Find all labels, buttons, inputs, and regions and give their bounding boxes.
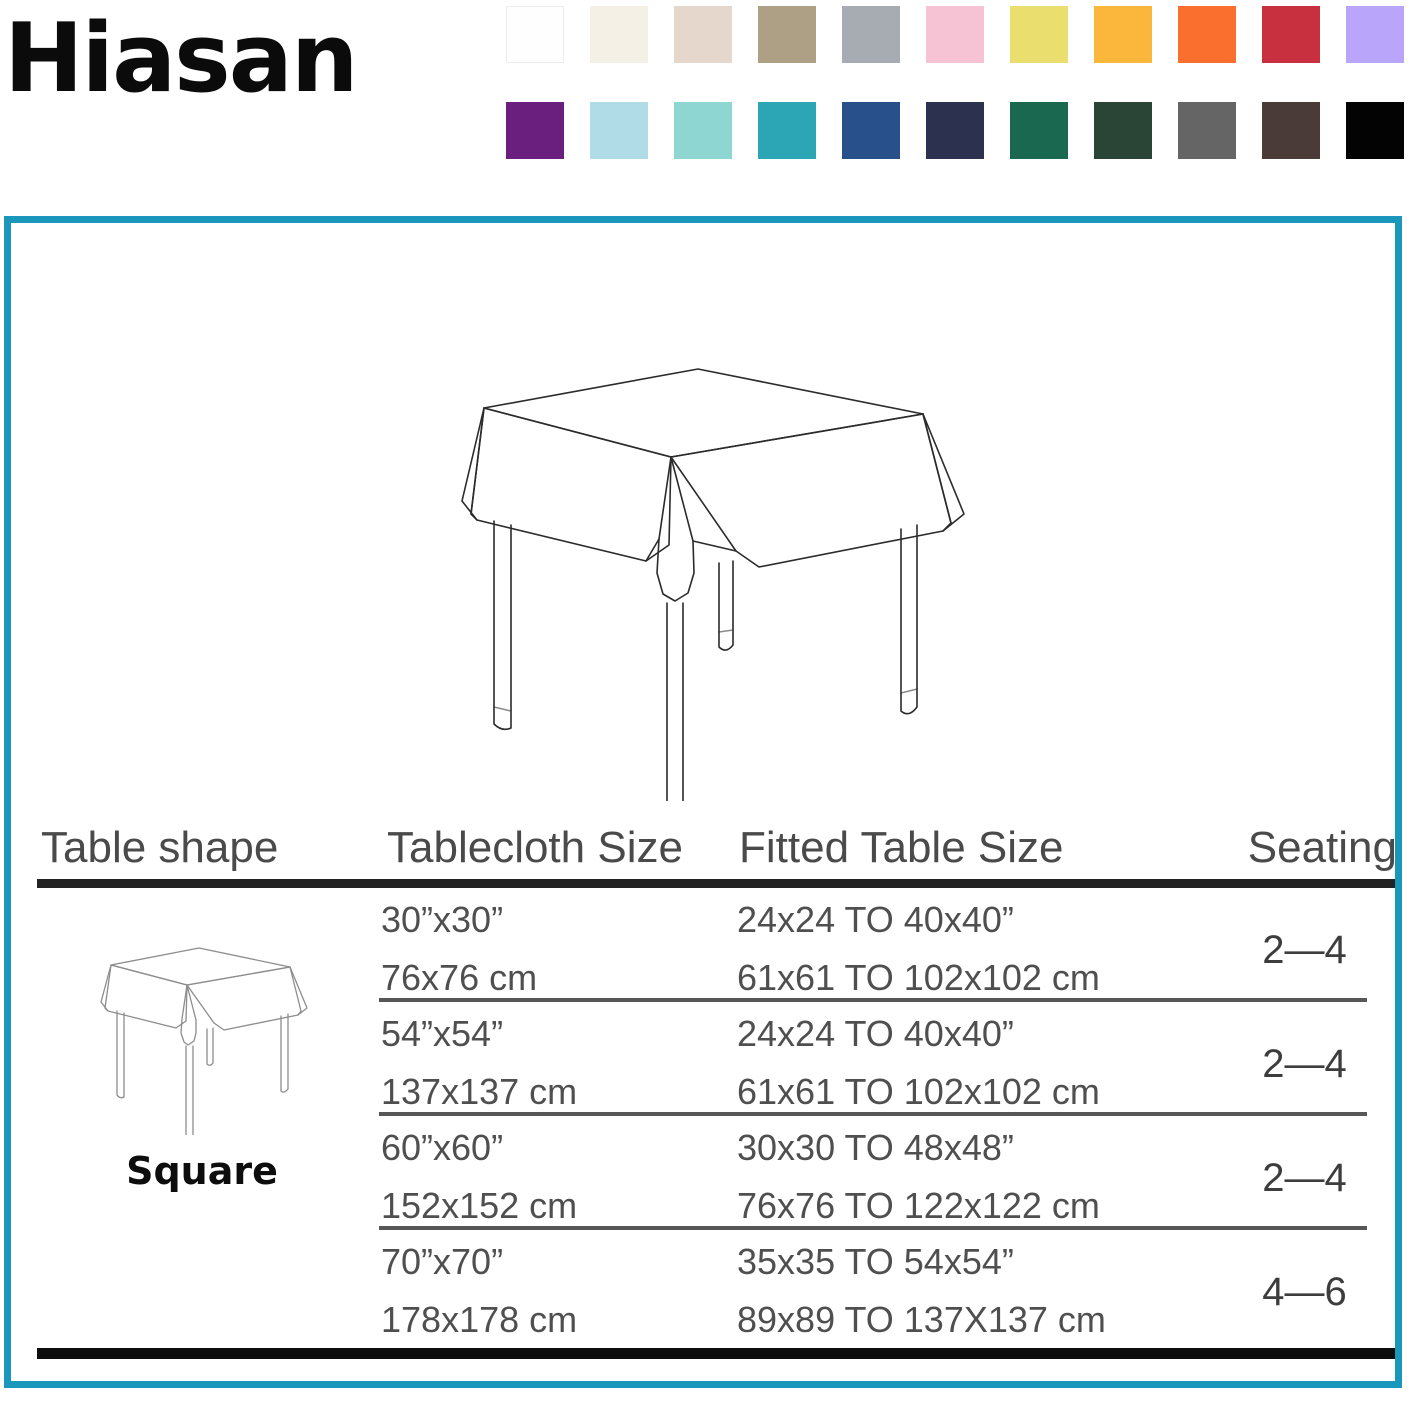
header-divider <box>37 879 1395 888</box>
col-header-seating: Seating <box>1248 826 1397 870</box>
swatch-navy-blue[interactable] <box>842 102 900 159</box>
swatch-orange[interactable] <box>1178 6 1236 63</box>
table-header-row: Table shape Tablecloth Size Fitted Table… <box>37 808 1397 870</box>
cell-seating: 2—4 <box>1212 1044 1397 1084</box>
cell-cloth-size-cm: 137x137 cm <box>381 1074 577 1110</box>
swatch-aqua[interactable] <box>674 102 732 159</box>
swatch-grey[interactable] <box>842 6 900 63</box>
cell-cloth-size-cm: 152x152 cm <box>381 1188 577 1224</box>
swatch-white[interactable] <box>506 6 564 63</box>
swatch-dark-brown[interactable] <box>1262 102 1320 159</box>
table-body: Square 30”x30” 76x76 cm 24x24 TO 40x40” … <box>37 888 1397 1359</box>
swatch-beige[interactable] <box>674 6 732 63</box>
cell-fitted-size-inches: 30x30 TO 48x48” <box>737 1130 1014 1166</box>
swatch-red[interactable] <box>1262 6 1320 63</box>
swatch-dark-navy[interactable] <box>926 102 984 159</box>
swatch-gold[interactable] <box>1094 6 1152 63</box>
table-row: 60”x60” 152x152 cm 30x30 TO 48x48” 76x76… <box>37 1116 1397 1226</box>
swatch-yellow[interactable] <box>1010 6 1068 63</box>
swatch-ivory[interactable] <box>590 6 648 63</box>
cell-fitted-size-inches: 24x24 TO 40x40” <box>737 902 1014 938</box>
swatch-light-blue[interactable] <box>590 102 648 159</box>
color-swatch-grid <box>506 6 1414 159</box>
swatch-pink[interactable] <box>926 6 984 63</box>
cell-fitted-size-cm: 76x76 TO 122x122 cm <box>737 1188 1100 1224</box>
swatch-black[interactable] <box>1346 102 1404 159</box>
brand-logo: Hiasan <box>4 12 356 107</box>
cell-fitted-size-inches: 24x24 TO 40x40” <box>737 1016 1014 1052</box>
size-spec-table: Table shape Tablecloth Size Fitted Table… <box>37 808 1397 1359</box>
cell-fitted-size-cm: 61x61 TO 102x102 cm <box>737 1074 1100 1110</box>
table-row: 30”x30” 76x76 cm 24x24 TO 40x40” 61x61 T… <box>37 888 1397 998</box>
table-bottom-border <box>37 1348 1395 1359</box>
cell-seating: 2—4 <box>1212 930 1397 970</box>
col-header-tablecloth-size: Tablecloth Size <box>387 826 683 870</box>
cell-fitted-size-cm: 61x61 TO 102x102 cm <box>737 960 1100 996</box>
swatch-taupe[interactable] <box>758 6 816 63</box>
cell-seating: 2—4 <box>1212 1158 1397 1198</box>
table-row: 70”x70” 178x178 cm 35x35 TO 54x54” 89x89… <box>37 1230 1397 1340</box>
header-band: Hiasan <box>0 0 1416 200</box>
cell-cloth-size-inches: 30”x30” <box>381 902 503 938</box>
cell-cloth-size-cm: 178x178 cm <box>381 1302 577 1338</box>
square-tablecloth-illustration <box>431 351 991 801</box>
col-header-fitted-table-size: Fitted Table Size <box>739 826 1063 870</box>
table-row: 54”x54” 137x137 cm 24x24 TO 40x40” 61x61… <box>37 1002 1397 1112</box>
cell-cloth-size-inches: 70”x70” <box>381 1244 503 1280</box>
swatch-purple[interactable] <box>506 102 564 159</box>
cell-seating: 4—6 <box>1212 1272 1397 1312</box>
swatch-teal[interactable] <box>758 102 816 159</box>
swatch-lavender[interactable] <box>1346 6 1404 63</box>
cell-cloth-size-inches: 60”x60” <box>381 1130 503 1166</box>
cell-fitted-size-cm: 89x89 TO 137X137 cm <box>737 1302 1106 1338</box>
cell-fitted-size-inches: 35x35 TO 54x54” <box>737 1244 1014 1280</box>
col-header-table-shape: Table shape <box>41 826 278 870</box>
swatch-charcoal[interactable] <box>1178 102 1236 159</box>
spec-panel: Table shape Tablecloth Size Fitted Table… <box>4 216 1402 1388</box>
swatch-hunter-green[interactable] <box>1094 102 1152 159</box>
cell-cloth-size-cm: 76x76 cm <box>381 960 537 996</box>
swatch-emerald[interactable] <box>1010 102 1068 159</box>
cell-cloth-size-inches: 54”x54” <box>381 1016 503 1052</box>
